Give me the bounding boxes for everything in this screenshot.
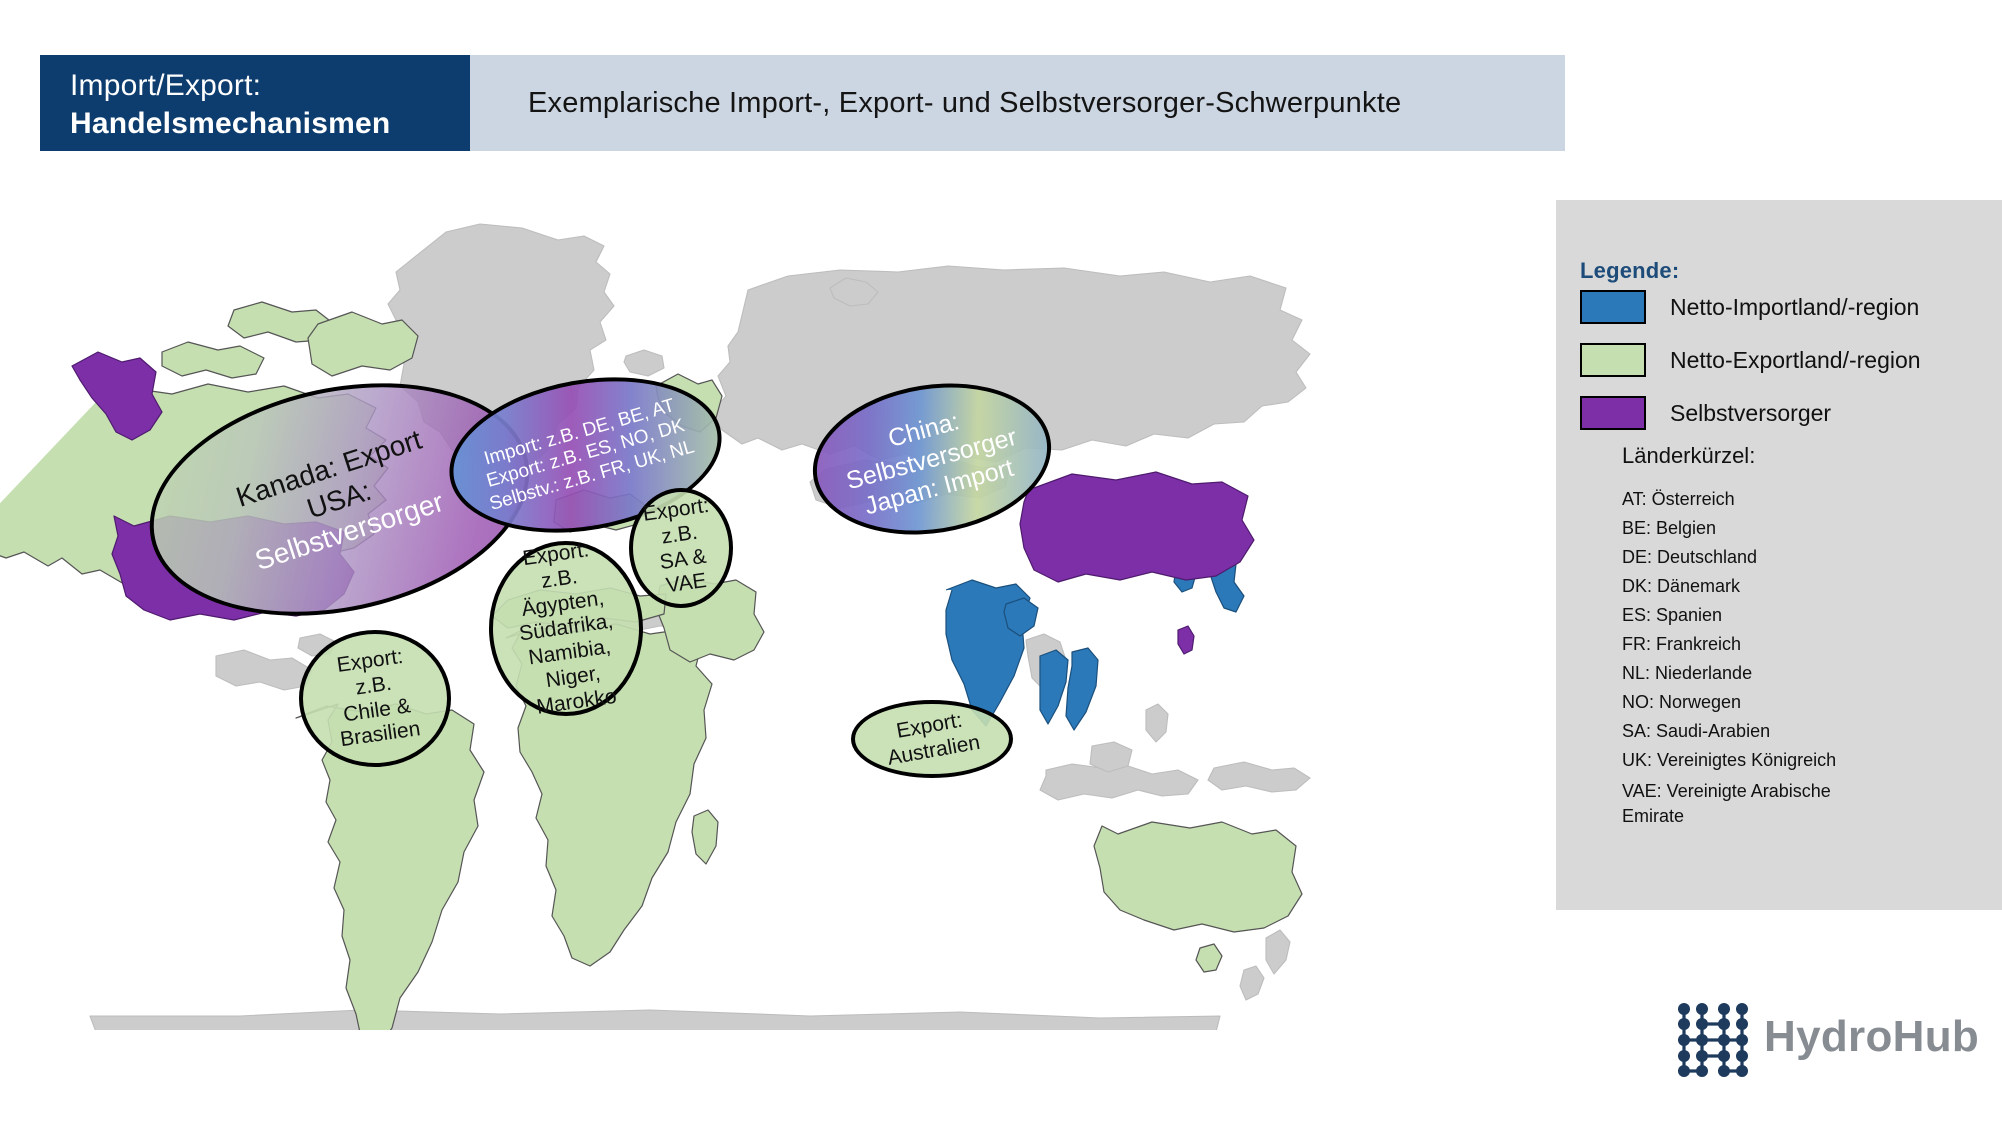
- bubble-middle-east-text: Export: z.B. SA & VAE: [641, 494, 721, 601]
- legend-panel: Legende: Netto-Importland/-region Netto-…: [1556, 200, 2002, 910]
- landmass-newguinea: [1208, 762, 1310, 792]
- abbreviation-item: NL: Niederlande: [1622, 659, 1982, 688]
- region-canada-islands-1: [162, 342, 264, 378]
- abbreviation-item: NO: Norwegen: [1622, 688, 1982, 717]
- legend-title: Legende:: [1580, 258, 1679, 284]
- abbreviation-item: AT: Österreich: [1622, 485, 1982, 514]
- landmass-new-zealand: [1266, 930, 1290, 974]
- abbreviation-item: DE: Deutschland: [1622, 543, 1982, 572]
- legend-swatch-export: [1580, 343, 1646, 377]
- landmass-iceland: [624, 350, 664, 376]
- header-subtitle-block: Exemplarische Import-, Export- und Selbs…: [470, 55, 1565, 151]
- hydrohub-logo-mark: [1672, 1000, 1754, 1080]
- legend-label-self: Selbstversorger: [1670, 400, 1831, 427]
- landmass-philippines: [1146, 704, 1168, 742]
- bubble-africa: Export: z.B. Ägypten, Südafrika, Namibia…: [489, 541, 643, 716]
- landmass-indonesia: [1040, 764, 1198, 800]
- landmass-central-america: [216, 650, 312, 690]
- abbreviation-item: SA: Saudi-Arabien: [1622, 717, 1982, 746]
- header-title-line2: Handelsmechanismen: [70, 105, 470, 143]
- legend-swatch-import: [1580, 290, 1646, 324]
- abbreviation-item: UK: Vereinigtes Königreich: [1622, 746, 1982, 775]
- bubble-middle-east: Export: z.B. SA & VAE: [629, 488, 733, 608]
- hydrohub-logo-text: HydroHub: [1764, 1012, 1979, 1062]
- region-australia: [1094, 822, 1302, 932]
- abbreviations-title: Länderkürzel:: [1622, 443, 1755, 469]
- region-china: [1020, 472, 1254, 582]
- header-title-block: Import/Export: Handelsmechanismen: [40, 55, 470, 151]
- abbreviations-list: AT: Österreich BE: Belgien DE: Deutschla…: [1622, 485, 1982, 829]
- legend-item-import: Netto-Importland/-region: [1580, 290, 1919, 324]
- legend-item-export: Netto-Exportland/-region: [1580, 343, 1921, 377]
- region-thailand: [1040, 650, 1068, 724]
- hydrohub-logo: HydroHub: [1672, 1000, 1940, 1080]
- bubble-africa-text: Export: z.B. Ägypten, Südafrika, Namibia…: [507, 536, 625, 721]
- legend-swatch-self: [1580, 396, 1646, 430]
- bubble-asia-text: China: Selbstversorger Japan: Import: [836, 394, 1028, 525]
- legend-label-import: Netto-Importland/-region: [1670, 294, 1919, 321]
- bubble-south-america-text: Export: z.B. Chile & Brasilien: [328, 644, 422, 753]
- header-subtitle: Exemplarische Import-, Export- und Selbs…: [470, 87, 1401, 120]
- bubble-south-america: Export: z.B. Chile & Brasilien: [299, 630, 451, 767]
- region-madagascar: [692, 810, 718, 864]
- abbreviation-item: DK: Dänemark: [1622, 572, 1982, 601]
- landmass-new-zealand-south: [1240, 966, 1264, 1000]
- region-baffin: [308, 312, 418, 376]
- bubble-north-america-text: Kanada: Export USA: Selbstversorger: [231, 422, 448, 577]
- abbreviation-item: BE: Belgien: [1622, 514, 1982, 543]
- abbreviation-item: ES: Spanien: [1622, 601, 1982, 630]
- region-taiwan: [1178, 626, 1194, 654]
- bubble-australia: Export: Australien: [851, 700, 1013, 778]
- header-title-line1: Import/Export:: [70, 67, 470, 105]
- legend-label-export: Netto-Exportland/-region: [1670, 347, 1921, 374]
- abbreviation-item: FR: Frankreich: [1622, 630, 1982, 659]
- legend-item-self: Selbstversorger: [1580, 396, 1831, 430]
- region-vietnam: [1066, 648, 1098, 730]
- landmass-antarctica: [90, 1010, 1220, 1030]
- page-header: Import/Export: Handelsmechanismen Exempl…: [40, 55, 1565, 151]
- region-tasmania: [1196, 944, 1222, 972]
- bubble-australia-text: Export: Australien: [882, 707, 983, 772]
- abbreviation-item: VAE: Vereinigte Arabische Emirate: [1622, 779, 1892, 829]
